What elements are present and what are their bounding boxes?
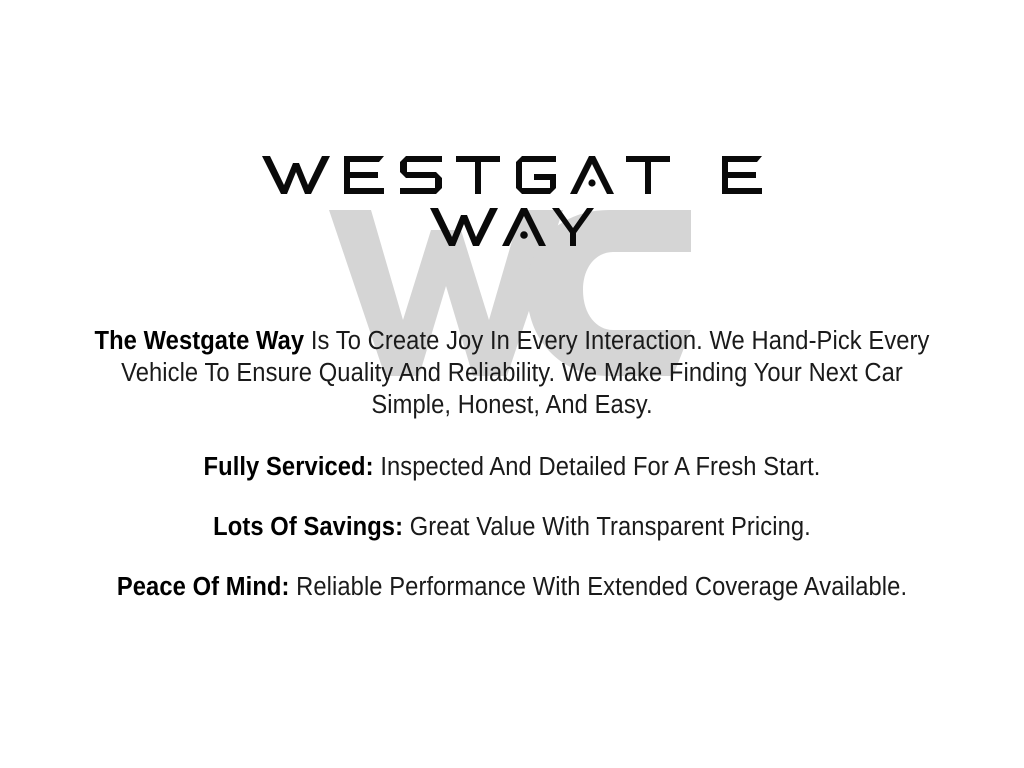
page-root: The Westgate Way Is To Create Joy In Eve…	[0, 0, 1024, 768]
benefit-label: Peace Of Mind:	[117, 573, 290, 601]
benefit-fully-serviced: Fully Serviced: Inspected And Detailed F…	[80, 451, 945, 483]
logo-primary-line	[0, 152, 1024, 196]
benefit-label: Lots Of Savings:	[213, 513, 403, 541]
benefit-peace-of-mind: Peace Of Mind: Reliable Performance With…	[80, 571, 945, 603]
intro-lead: The Westgate Way	[94, 327, 304, 355]
brand-logo	[0, 100, 1024, 290]
logo-secondary-line	[0, 204, 1024, 248]
benefit-lots-of-savings: Lots Of Savings: Great Value With Transp…	[80, 511, 945, 543]
value-proposition-copy: The Westgate Way Is To Create Joy In Eve…	[0, 325, 1024, 603]
benefit-description: Reliable Performance With Extended Cover…	[289, 573, 907, 601]
benefit-description: Inspected And Detailed For A Fresh Start…	[374, 453, 821, 481]
benefit-description: Great Value With Transparent Pricing.	[403, 513, 811, 541]
logo-text-westgate	[260, 152, 764, 196]
logo-text-way	[428, 204, 596, 248]
benefit-label: Fully Serviced:	[204, 453, 374, 481]
intro-paragraph: The Westgate Way Is To Create Joy In Eve…	[80, 325, 945, 421]
